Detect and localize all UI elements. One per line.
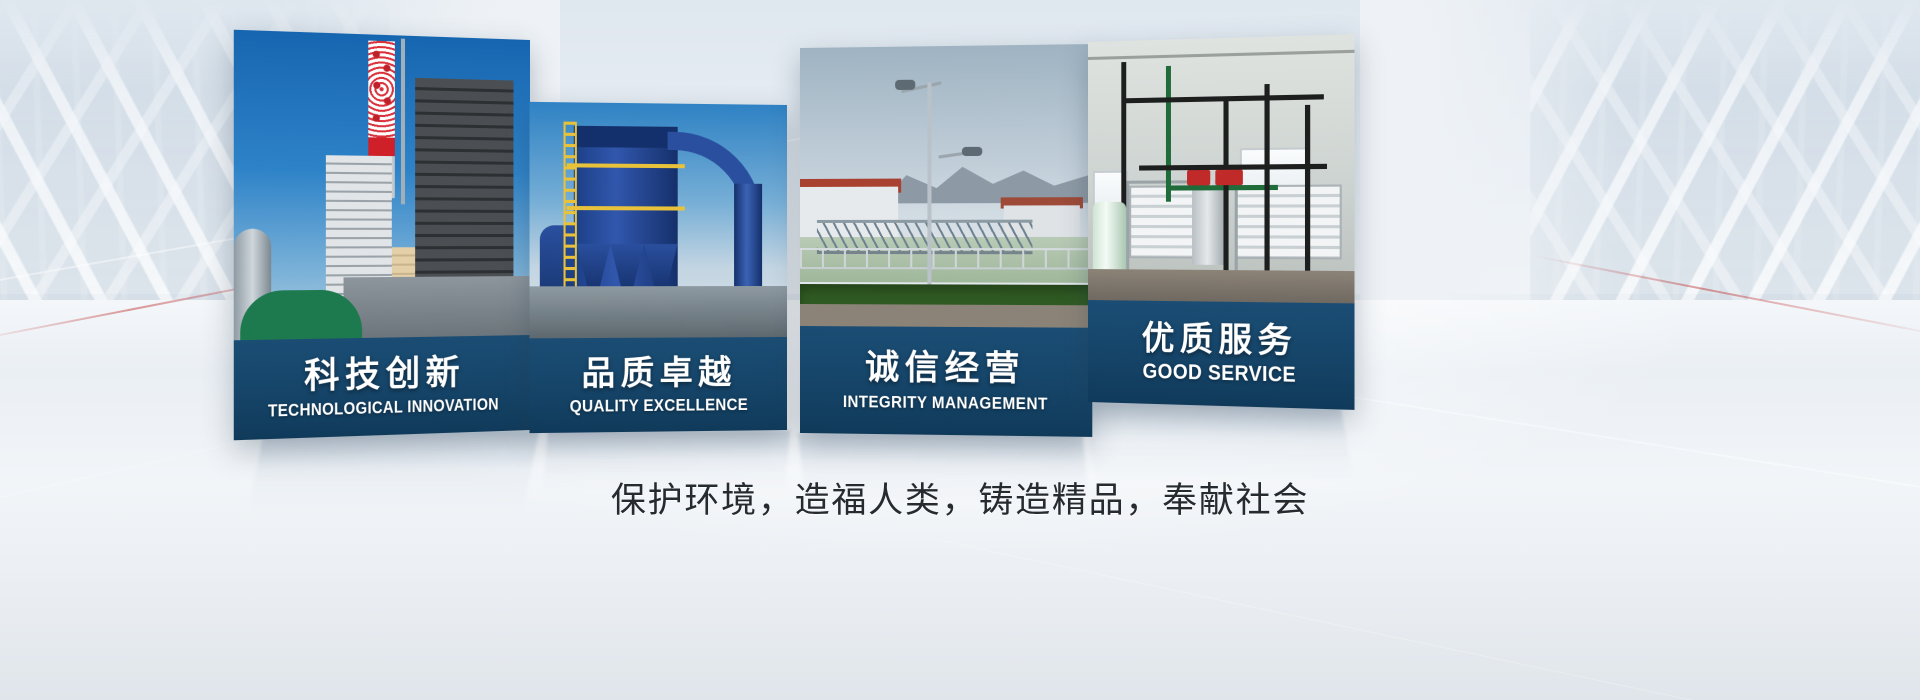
panel-photo-power-plant [234, 30, 530, 341]
panel-title-en: GOOD SERVICE [1143, 360, 1297, 389]
banner-tagline: 保护环境，造福人类，铸造精品，奉献社会 [0, 472, 1920, 523]
panel-quality-excellence[interactable]: 品质卓越 QUALITY EXCELLENCE [530, 102, 787, 433]
panel-good-service[interactable]: 优质服务 GOOD SERVICE [1088, 34, 1355, 410]
panel-caption-band: 诚信经营 INTEGRITY MANAGEMENT [800, 326, 1092, 437]
panel-integrity-management[interactable]: 诚信经营 INTEGRITY MANAGEMENT [800, 44, 1092, 437]
panel-caption-band: 科技创新 TECHNOLOGICAL INNOVATION [234, 335, 530, 440]
panel-title-en: TECHNOLOGICAL INNOVATION [268, 395, 499, 420]
panel-technological-innovation[interactable]: 科技创新 TECHNOLOGICAL INNOVATION [234, 30, 530, 441]
panel-title-en: INTEGRITY MANAGEMENT [843, 392, 1048, 414]
panel-photo-wastewater-plant [800, 44, 1092, 328]
panel-title-cn: 品质卓越 [581, 355, 736, 390]
panel-caption-band: 优质服务 GOOD SERVICE [1088, 300, 1355, 410]
panel-title-cn: 诚信经营 [865, 350, 1025, 386]
panel-group: 科技创新 TECHNOLOGICAL INNOVATION [0, 0, 1920, 700]
panel-title-cn: 优质服务 [1142, 321, 1298, 358]
banner-stage: 科技创新 TECHNOLOGICAL INNOVATION [0, 0, 1920, 700]
panel-title-cn: 科技创新 [304, 355, 465, 394]
panel-photo-dust-collector [530, 102, 787, 338]
panel-caption-band: 品质卓越 QUALITY EXCELLENCE [530, 337, 787, 433]
panel-photo-water-treatment-room [1088, 34, 1355, 303]
panel-title-en: QUALITY EXCELLENCE [570, 395, 748, 416]
